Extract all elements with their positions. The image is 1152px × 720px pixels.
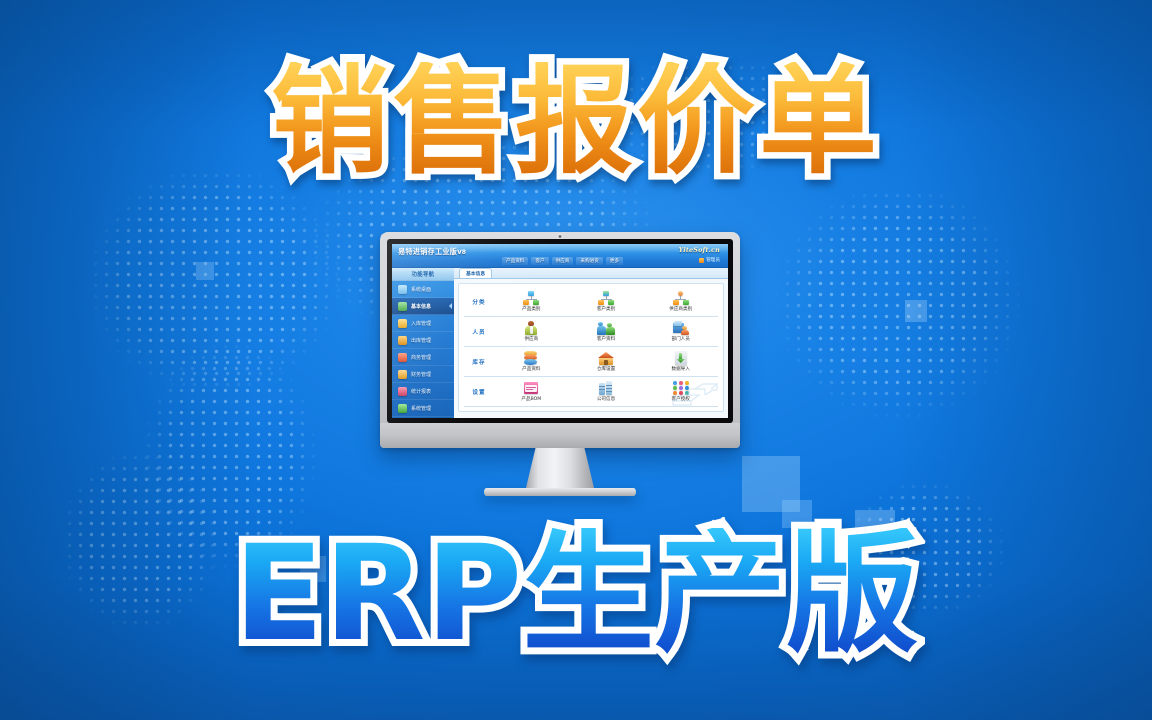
outbound-icon [398,336,407,345]
module-customer-profile[interactable]: 客户资料 [569,321,644,342]
app-version: V8 [457,249,466,256]
sidebar-item-system[interactable]: 系统管理 [392,400,454,417]
company-building-icon [598,381,614,395]
import-arrow-icon [673,351,689,365]
tab-bar: 基本信息 [454,268,728,279]
group-items-categories: 产品类别 [494,291,718,312]
customer-tree-icon [598,291,614,305]
group-categories: 分类 [464,287,718,317]
group-items-people: 供应商 [494,321,718,342]
tab-basic-info[interactable]: 基本信息 [459,268,492,278]
module-department-staff[interactable]: 部门人员 [643,321,718,342]
module-product-profile[interactable]: 产品资料 [494,351,569,372]
module-warehouse-settings[interactable]: 仓库设置 [569,351,644,372]
monitor-stand-neck [526,448,594,488]
sidebar-item-inbound[interactable]: 入库管理 [392,315,454,332]
group-people: 人员 供应商 [464,317,718,347]
sidebar-header: 功能导航 [392,268,454,281]
module-label: 客户类别 [597,306,615,312]
module-label: 公司信息 [597,396,615,402]
home-icon [398,285,407,294]
module-panel: 分类 [458,283,724,412]
module-data-import[interactable]: 数据导入 [643,351,718,372]
module-supplier-category[interactable]: 供应商类别 [643,291,718,312]
sidebar-label-desktop: 系统桌面 [411,286,431,293]
nav-item-products[interactable]: 产品资料 [502,257,528,265]
main-content: 基本信息 分类 [454,268,728,418]
business-icon [398,353,407,362]
supplier-tree-icon [673,291,689,305]
app-nav-bar: 产品资料 客户 供应商 采购进货 更多 [502,257,623,265]
group-label-settings: 设置 [464,388,494,396]
nav-item-suppliers[interactable]: 供应商 [552,257,574,265]
module-product-bom[interactable]: 产品BOM [494,381,569,402]
sidebar-item-business[interactable]: 商务管理 [392,349,454,366]
sidebar: 功能导航 系统桌面 基本信息 入库管理 [392,268,454,418]
department-staff-icon [673,321,689,335]
monitor-screen: 易特进销存工业版V8 YiteSoft.cn 产品资料 客户 供应商 采购进货 … [387,239,733,423]
module-label: 产品类别 [522,306,540,312]
sidebar-label-business: 商务管理 [411,354,431,361]
monitor-body: 易特进销存工业版V8 YiteSoft.cn 产品资料 客户 供应商 采购进货 … [380,232,740,448]
module-label: 客户资料 [597,336,615,342]
webcam-icon [559,235,562,238]
group-label-categories: 分类 [464,298,494,306]
bom-card-icon [523,381,539,395]
sidebar-item-outbound[interactable]: 出库管理 [392,332,454,349]
poster-wordmark: ERP生产版 ERP生产版 [0,528,1152,660]
module-company-info[interactable]: 公司信息 [569,381,644,402]
module-label: 供应商类别 [669,306,692,312]
nav-item-customers[interactable]: 客户 [531,257,548,265]
report-icon [398,387,407,396]
sidebar-label-reports: 统计报表 [411,388,431,395]
customer-person-icon [598,321,614,335]
app-header: 易特进销存工业版V8 YiteSoft.cn 产品资料 客户 供应商 采购进货 … [392,244,728,268]
sidebar-label-inbound: 入库管理 [411,320,431,327]
module-label: 部门人员 [671,336,689,342]
monitor-mockup: 易特进销存工业版V8 YiteSoft.cn 产品资料 客户 供应商 采购进货 … [380,232,740,496]
sidebar-label-finance: 财务管理 [411,371,431,378]
sidebar-item-basic-info[interactable]: 基本信息 [392,298,454,315]
app-title-text: 易特进销存工业版 [398,247,457,256]
sidebar-item-desktop[interactable]: 系统桌面 [392,281,454,298]
headline-fill: 销售报价单 [271,62,881,180]
module-label: 供应商 [524,336,538,342]
poster-stage: 销售报价单 销售报价单 易特进销存工业版V8 YiteSoft.cn 产品资料 [0,0,1152,720]
nav-item-purchase[interactable]: 采购进货 [576,257,602,265]
inbound-icon [398,319,407,328]
group-label-inventory: 库存 [464,358,494,366]
module-customer-category[interactable]: 客户类别 [569,291,644,312]
user-badge-icon [699,258,704,263]
product-stack-icon [523,351,539,365]
sidebar-item-finance[interactable]: 财务管理 [392,366,454,383]
org-tree-icon [523,291,539,305]
supplier-person-icon [523,321,539,335]
sidebar-label-outbound: 出库管理 [411,337,431,344]
app-title: 易特进销存工业版V8 [398,247,466,257]
nav-item-more[interactable]: 更多 [606,257,623,265]
module-label: 产品BOM [521,396,541,402]
monitor-chin [380,423,740,448]
wordmark-fill: ERP生产版 [234,528,919,660]
brand-logo: YiteSoft.cn [679,246,720,254]
group-label-people: 人员 [464,328,494,336]
module-label: 仓库设置 [597,366,615,372]
poster-headline: 销售报价单 销售报价单 [0,62,1152,180]
monitor-stand-base [484,488,636,496]
module-product-category[interactable]: 产品类别 [494,291,569,312]
module-supplier[interactable]: 供应商 [494,321,569,342]
module-label: 产品资料 [522,366,540,372]
current-user[interactable]: 管理员 [699,257,720,263]
user-label: 管理员 [706,257,720,263]
module-label: 数据导入 [671,366,689,372]
app-body: 功能导航 系统桌面 基本信息 入库管理 [392,268,728,418]
sidebar-label-basic-info: 基本信息 [411,303,431,310]
finance-icon [398,370,407,379]
sidebar-label-system: 系统管理 [411,405,431,412]
settings-icon [398,404,407,413]
group-items-inventory: 产品资料 仓库设置 [494,351,718,372]
background-watermark-icon [669,375,721,409]
sidebar-item-reports[interactable]: 统计报表 [392,383,454,400]
info-icon [398,302,407,311]
warehouse-house-icon [598,351,614,365]
group-inventory: 库存 产品资料 [464,347,718,377]
erp-application: 易特进销存工业版V8 YiteSoft.cn 产品资料 客户 供应商 采购进货 … [392,244,728,418]
